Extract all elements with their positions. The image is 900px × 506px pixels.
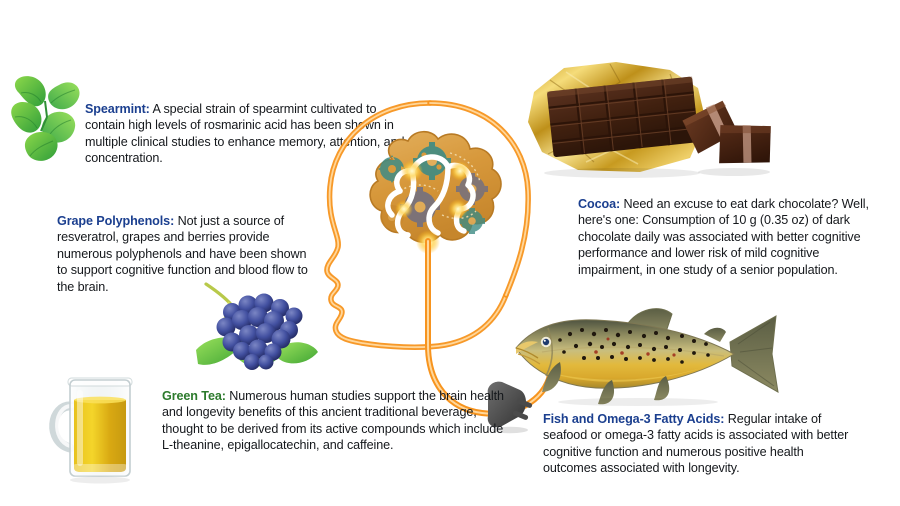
green-tea-mug-image — [44, 366, 154, 486]
fact-grape-lead: Grape Polyphenols: — [57, 214, 174, 228]
infographic-canvas: Spearmint: A special strain of spearmint… — [0, 0, 900, 506]
fact-cocoa-body: Need an excuse to eat dark chocolate? We… — [578, 197, 869, 277]
chocolate-chunks-image — [678, 92, 778, 177]
fact-cocoa-lead: Cocoa: — [578, 197, 620, 211]
gear-brain — [370, 132, 501, 254]
fact-cocoa: Cocoa: Need an excuse to eat dark chocol… — [578, 196, 878, 279]
fact-greentea-lead: Green Tea: — [162, 389, 226, 403]
fact-greentea: Green Tea: Numerous human studies suppor… — [162, 388, 512, 454]
spearmint-leaves-image — [5, 63, 89, 168]
brown-trout-image — [508, 300, 783, 410]
fact-fish: Fish and Omega-3 Fatty Acids: Regular in… — [543, 411, 853, 477]
fact-fish-lead: Fish and Omega-3 Fatty Acids: — [543, 412, 724, 426]
fact-spearmint-lead: Spearmint: — [85, 102, 150, 116]
